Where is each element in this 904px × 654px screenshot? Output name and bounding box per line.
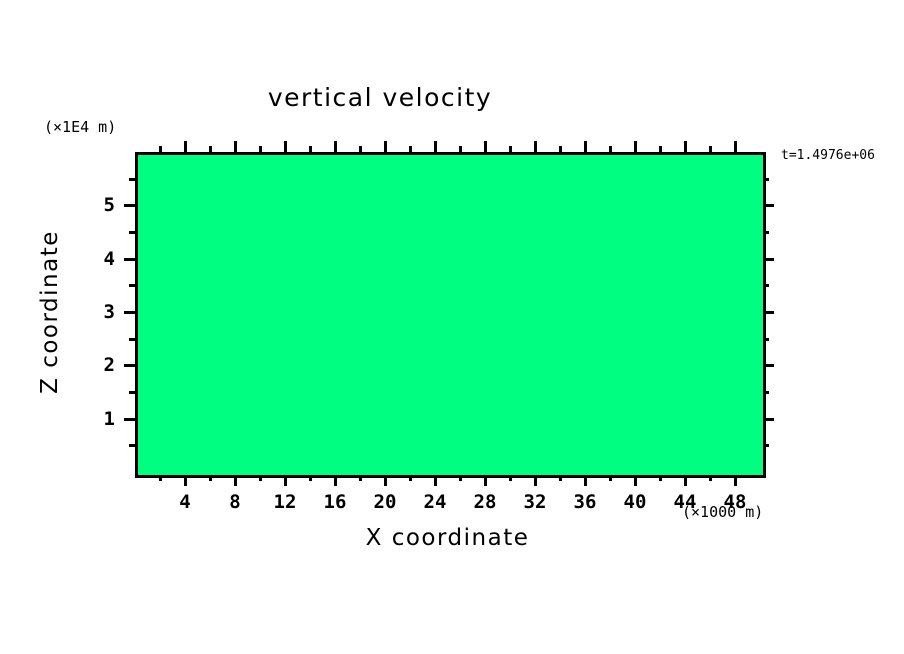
y-axis-minor-tick xyxy=(763,391,769,394)
x-axis-minor-tick xyxy=(259,146,262,152)
x-axis-tick xyxy=(234,141,237,152)
y-axis-tick xyxy=(763,258,774,261)
contour-plot-figure: vertical velocity (×1E4 m) t=1.4976e+06 … xyxy=(0,0,904,654)
colorbar[interactable] xyxy=(779,196,805,516)
y-axis-tick xyxy=(763,204,774,207)
x-axis-minor-tick xyxy=(659,146,662,152)
x-axis-minor-tick xyxy=(459,146,462,152)
x-axis-minor-tick xyxy=(659,475,662,481)
x-axis-minor-tick xyxy=(159,146,162,152)
x-axis-minor-tick xyxy=(209,475,212,481)
x-axis-minor-tick xyxy=(559,475,562,481)
y-axis-minor-tick xyxy=(129,231,135,234)
x-axis-tick xyxy=(284,141,287,152)
x-axis-tick xyxy=(484,141,487,152)
x-axis-tick-label: 16 xyxy=(324,491,347,513)
y-axis-tick xyxy=(763,311,774,314)
y-axis-tick xyxy=(763,364,774,367)
x-axis-tick-label: 24 xyxy=(424,491,447,513)
y-axis-minor-tick xyxy=(763,231,769,234)
plot-area[interactable] xyxy=(135,152,766,478)
x-axis-tick xyxy=(734,475,737,486)
y-axis-tick-label: 3 xyxy=(97,301,115,323)
y-axis-minor-tick xyxy=(129,284,135,287)
x-axis-tick-label: 36 xyxy=(574,491,597,513)
y-axis-minor-tick xyxy=(129,391,135,394)
x-axis-tick xyxy=(684,141,687,152)
x-axis-minor-tick xyxy=(459,475,462,481)
y-axis-tick-label: 4 xyxy=(97,248,115,270)
y-axis-title: Z coordinate xyxy=(37,230,63,394)
x-axis-minor-tick xyxy=(609,475,612,481)
x-axis-tick-label: 12 xyxy=(274,491,297,513)
x-axis-tick xyxy=(584,141,587,152)
x-axis-minor-tick xyxy=(359,475,362,481)
x-axis-tick xyxy=(534,141,537,152)
x-axis-minor-tick xyxy=(359,146,362,152)
x-axis-minor-tick xyxy=(409,146,412,152)
x-axis-minor-tick xyxy=(709,146,712,152)
y-axis-minor-tick xyxy=(763,338,769,341)
x-axis-tick xyxy=(584,475,587,486)
x-axis-tick xyxy=(634,141,637,152)
x-axis-minor-tick xyxy=(309,475,312,481)
x-axis-unit-label: (×1000 m) xyxy=(682,503,763,521)
x-axis-tick xyxy=(384,475,387,486)
x-axis-tick xyxy=(484,475,487,486)
y-axis-tick xyxy=(124,418,135,421)
x-axis-tick xyxy=(334,141,337,152)
x-axis-minor-tick xyxy=(559,146,562,152)
x-axis-tick-label: 28 xyxy=(474,491,497,513)
y-axis-minor-tick xyxy=(763,444,769,447)
x-axis-tick xyxy=(434,475,437,486)
x-axis-tick xyxy=(334,475,337,486)
y-axis-tick xyxy=(124,204,135,207)
x-axis-minor-tick xyxy=(609,146,612,152)
x-axis-tick xyxy=(634,475,637,486)
x-axis-tick xyxy=(184,141,187,152)
y-axis-tick-label: 2 xyxy=(97,354,115,376)
x-axis-tick xyxy=(734,141,737,152)
y-axis-tick-label: 1 xyxy=(97,408,115,430)
y-axis-minor-tick xyxy=(129,338,135,341)
x-axis-minor-tick xyxy=(259,475,262,481)
x-axis-tick-label: 4 xyxy=(179,491,190,513)
y-axis-minor-tick xyxy=(129,444,135,447)
contour-field-canvas xyxy=(138,155,763,475)
x-axis-minor-tick xyxy=(409,475,412,481)
x-axis-tick xyxy=(234,475,237,486)
x-axis-minor-tick xyxy=(509,146,512,152)
x-axis-minor-tick xyxy=(159,475,162,481)
x-axis-minor-tick xyxy=(209,146,212,152)
x-axis-minor-tick xyxy=(509,475,512,481)
y-axis-minor-tick xyxy=(129,178,135,181)
colorbar-canvas xyxy=(779,196,805,516)
y-axis-tick xyxy=(124,311,135,314)
page-title: vertical velocity xyxy=(0,83,760,112)
y-axis-minor-tick xyxy=(763,284,769,287)
y-axis-tick-label: 5 xyxy=(97,194,115,216)
y-axis-unit-label: (×1E4 m) xyxy=(44,118,116,136)
x-axis-minor-tick xyxy=(309,146,312,152)
timestamp-label: t=1.4976e+06 xyxy=(781,148,875,163)
y-axis-tick xyxy=(124,258,135,261)
x-axis-title: X coordinate xyxy=(135,525,760,551)
x-axis-tick-label: 40 xyxy=(624,491,647,513)
x-axis-tick-label: 20 xyxy=(374,491,397,513)
y-axis-minor-tick xyxy=(763,178,769,181)
x-axis-tick xyxy=(284,475,287,486)
x-axis-tick xyxy=(684,475,687,486)
y-axis-tick xyxy=(124,364,135,367)
x-axis-tick-label: 8 xyxy=(229,491,240,513)
x-axis-tick xyxy=(434,141,437,152)
x-axis-tick xyxy=(184,475,187,486)
x-axis-minor-tick xyxy=(709,475,712,481)
x-axis-tick xyxy=(534,475,537,486)
y-axis-tick xyxy=(763,418,774,421)
x-axis-tick xyxy=(384,141,387,152)
x-axis-tick-label: 32 xyxy=(524,491,547,513)
